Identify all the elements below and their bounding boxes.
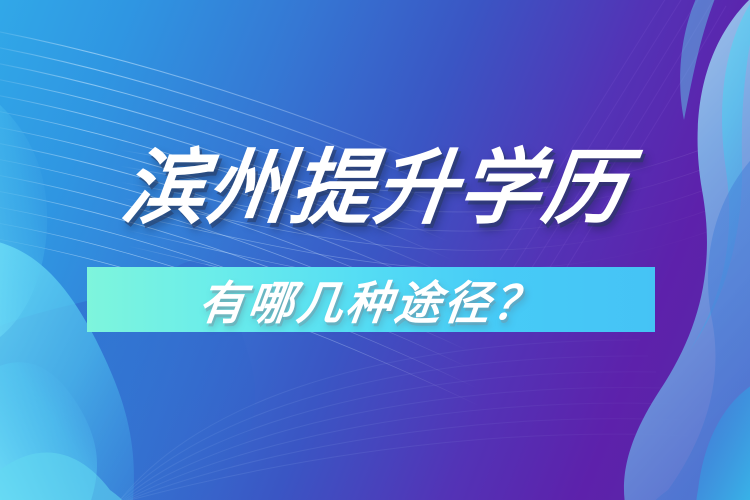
promo-banner: 滨州提升学历 有哪几种途径？ bbox=[0, 0, 750, 500]
banner-headline: 滨州提升学历 bbox=[0, 148, 750, 230]
banner-content: 滨州提升学历 有哪几种途径？ bbox=[0, 0, 750, 500]
banner-subtitle: 有哪几种途径？ bbox=[83, 267, 659, 332]
